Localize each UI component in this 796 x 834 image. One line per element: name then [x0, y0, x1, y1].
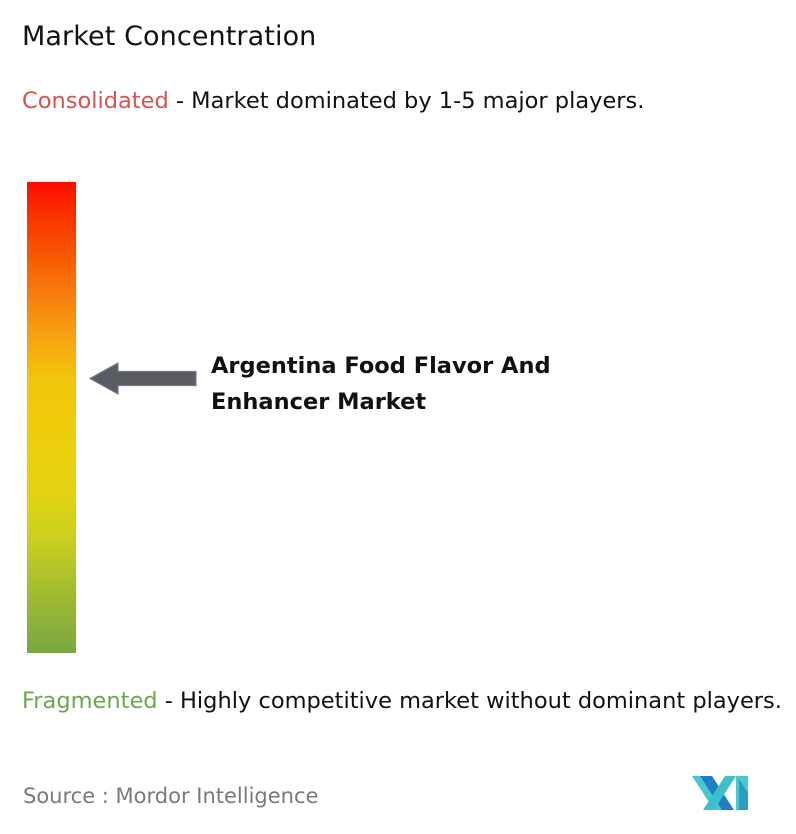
legend-keyword-fragmented: Fragmented [22, 688, 158, 714]
legend-description-consolidated: - Market dominated by 1-5 major players. [169, 88, 645, 114]
legend-keyword-consolidated: Consolidated [22, 88, 169, 114]
source-note: Source : Mordor Intelligence [23, 782, 318, 810]
callout-label: Argentina Food Flavor And Enhancer Marke… [211, 348, 681, 420]
callout-label-line-2: Enhancer Market [211, 384, 681, 420]
market-concentration-scale-bar [27, 182, 76, 653]
legend-fragmented: Fragmented - Highly competitive market w… [22, 685, 784, 717]
legend-consolidated: Consolidated - Market dominated by 1-5 m… [22, 85, 784, 117]
mordor-intelligence-logo [692, 770, 754, 812]
legend-description-fragmented: - Highly competitive market without domi… [158, 688, 782, 714]
page-title: Market Concentration [22, 20, 316, 54]
callout-label-line-1: Argentina Food Flavor And [211, 348, 681, 384]
left-arrow-icon [88, 360, 198, 397]
